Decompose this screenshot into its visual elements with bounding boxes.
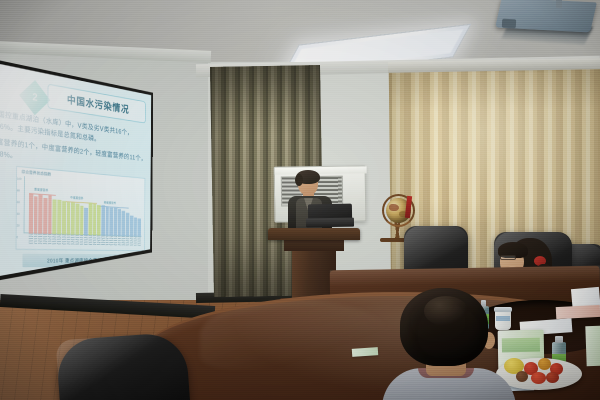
presenter-hair-side: [295, 174, 303, 186]
presenter-glasses: [298, 181, 311, 184]
fruit-tomato-3: [531, 372, 546, 384]
screen-brightness-overlay: [0, 57, 151, 278]
projector-mount: [556, 0, 562, 8]
podium-neck: [284, 239, 344, 251]
attendee-hair: [400, 288, 488, 366]
chair-highlight: [56, 332, 191, 400]
globe-continent-1: [389, 204, 399, 211]
laptop-keyboard: [306, 218, 354, 228]
conference-room-photo: 2 中国水污染情况 26个国控重点湖泊（水库）中，Ⅴ类及劣Ⅴ类共16个， 占61…: [0, 0, 600, 400]
projection-screen: 2 中国水污染情况 26个国控重点湖泊（水库）中，Ⅴ类及劣Ⅴ类共16个， 占61…: [0, 54, 153, 284]
document-folder: [556, 305, 600, 319]
chair-foreground: [56, 332, 191, 400]
projector-lens: [502, 19, 516, 29]
woman-glasses: [500, 255, 516, 260]
attendee-hair-sheen: [424, 296, 468, 326]
screen-surface: 2 中国水污染情况 26个国控重点湖泊（水库）中，Ⅴ类及劣Ⅴ类共16个， 占61…: [0, 57, 151, 278]
bottle-cap: [555, 336, 562, 343]
foreground-attendee: [388, 288, 508, 400]
tissue-box-right: [585, 326, 600, 367]
fruit-date: [516, 371, 528, 382]
podium-top-surface: [268, 228, 360, 240]
fruit-tomato-4: [546, 372, 559, 383]
